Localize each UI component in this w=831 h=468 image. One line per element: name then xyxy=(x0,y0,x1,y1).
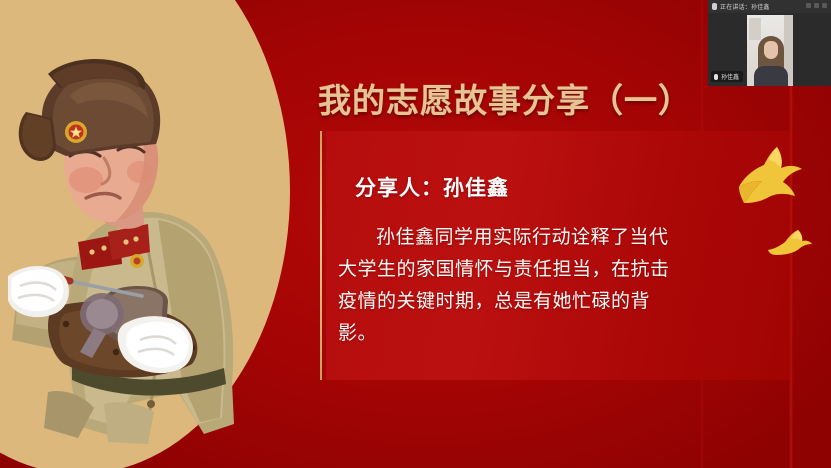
close-icon[interactable] xyxy=(822,3,827,8)
participant-name-badge: 孙佳鑫 xyxy=(711,71,743,82)
story-body-text: 孙佳鑫同学用实际行动诠释了当代大学生的家国情怀与责任担当，在抗击疫情的关键时期，… xyxy=(338,222,678,350)
microphone-icon xyxy=(714,74,718,80)
video-speaking-bar: 正在讲话：孙佳鑫 xyxy=(708,0,831,13)
participant-video-feed xyxy=(747,15,793,86)
video-participant-tile[interactable]: 正在讲话：孙佳鑫 孙佳鑫 xyxy=(708,0,831,86)
speaker-label: 分享人：孙佳鑫 xyxy=(355,172,509,202)
maximize-icon[interactable] xyxy=(814,3,819,8)
presentation-slide: 我的志愿故事分享（一） 分享人：孙佳鑫 孙佳鑫同学用实际行动诠释了当代大学生的家… xyxy=(0,0,831,468)
video-speaking-label: 正在讲话：孙佳鑫 xyxy=(720,2,770,11)
video-window-controls[interactable] xyxy=(806,3,827,8)
peace-dove-large-icon xyxy=(736,141,810,215)
page-title: 我的志愿故事分享（一） xyxy=(318,74,718,122)
participant-name-label: 孙佳鑫 xyxy=(721,72,739,81)
peace-dove-small-icon xyxy=(768,228,812,258)
panel-gold-rule xyxy=(320,131,322,380)
lei-feng-soldier-illustration xyxy=(8,52,286,452)
background-wall-frame xyxy=(749,18,761,40)
participant-face xyxy=(764,41,778,59)
minimize-icon[interactable] xyxy=(806,3,811,8)
microphone-icon xyxy=(712,3,717,10)
participant-body xyxy=(754,66,788,86)
